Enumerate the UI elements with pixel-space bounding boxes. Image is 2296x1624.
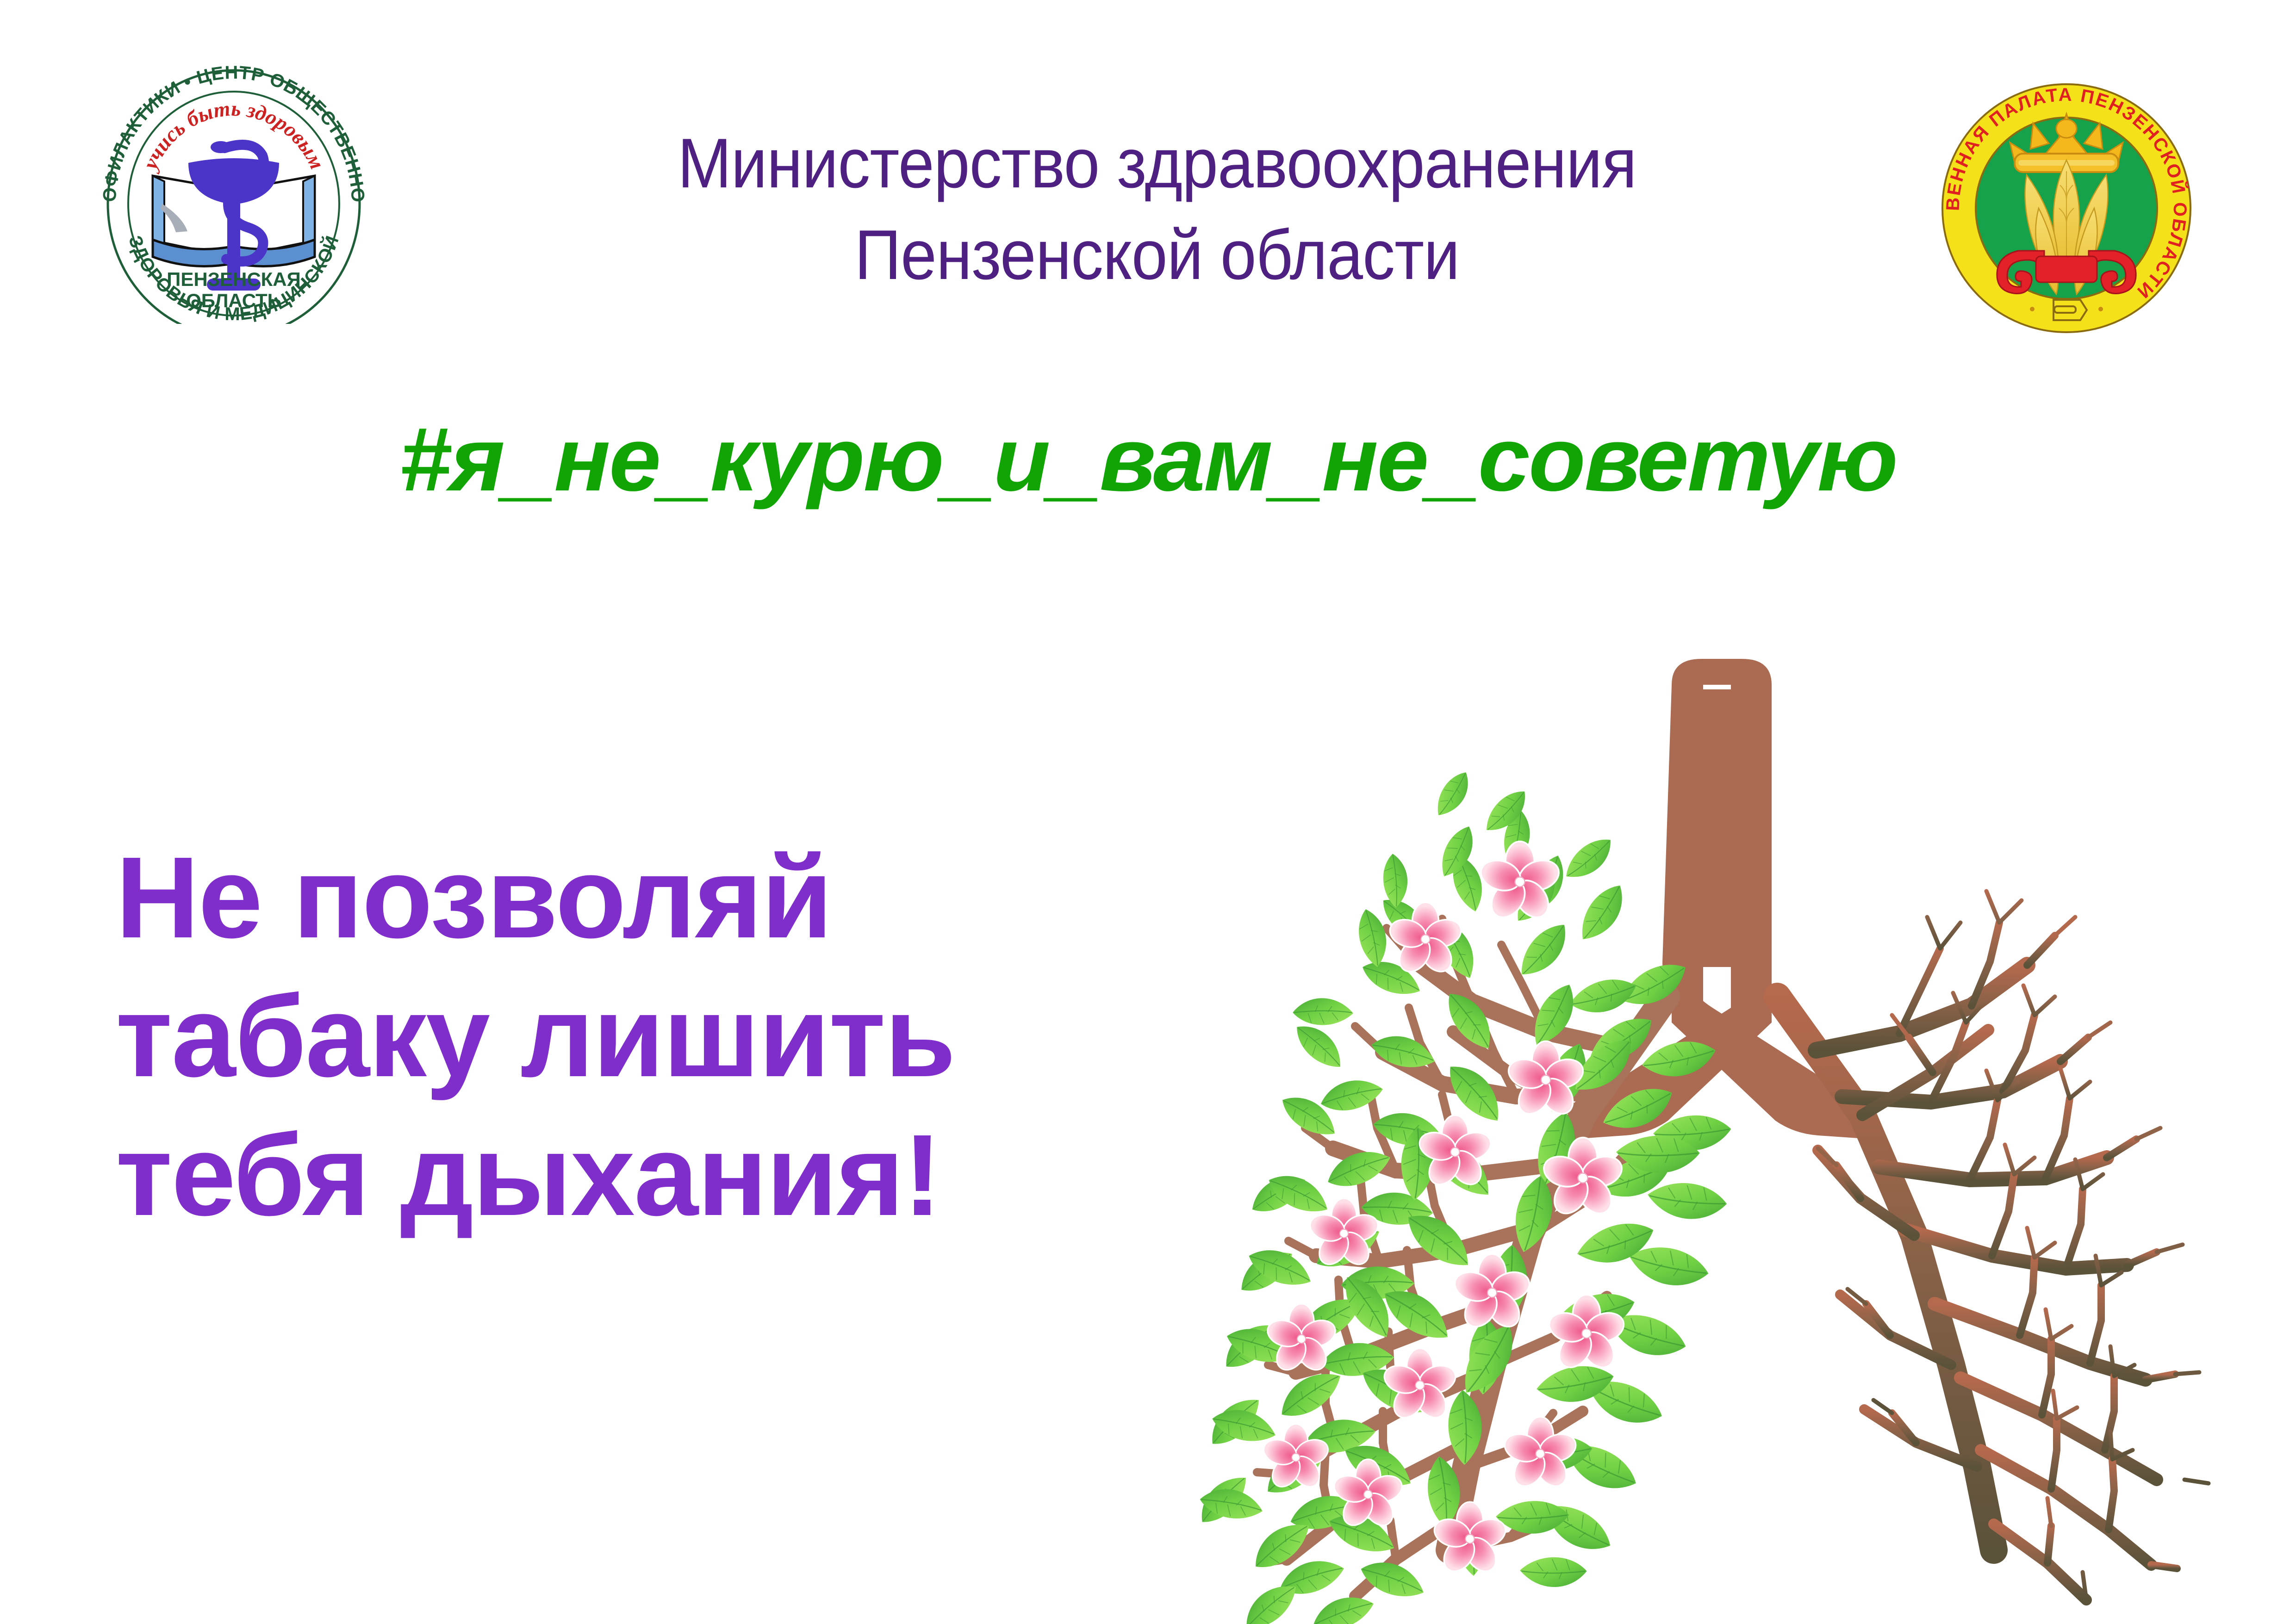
campaign-hashtag: #я_не_курю_и_вам_не_советую [0,407,2296,511]
belt-buckle-icon [2053,300,2087,320]
slogan-line-2: табаку лишить [116,967,1217,1106]
damaged-lung-branches [1777,891,2209,1600]
slogan-line-1: Не позволяй [116,828,1217,967]
page-title: Министерство здравоохранения Пензенской … [582,118,1732,301]
poster-header: ПРОФИЛАКТИКИ • ЦЕНТР ОБЩЕСТВЕННОГО ЗДОРО… [0,0,2296,379]
lungs-tree-illustration [1148,634,2296,1624]
center-public-health-logo: ПРОФИЛАКТИКИ • ЦЕНТР ОБЩЕСТВЕННОГО ЗДОРО… [72,65,396,324]
logo-center-line2: ОБЛАСТЬ [186,290,281,311]
main-slogan: Не позволяй табаку лишить тебя дыхания! [116,828,1217,1245]
public-chamber-emblem: ОБЩЕСТВЕННАЯ ПАЛАТА ПЕНЗЕНСКОЙ ОБЛАСТИ [1928,69,2205,347]
slogan-line-3: тебя дыхания! [116,1106,1217,1245]
logo-center-line1: ПЕНЗЕНСКАЯ [167,268,301,290]
